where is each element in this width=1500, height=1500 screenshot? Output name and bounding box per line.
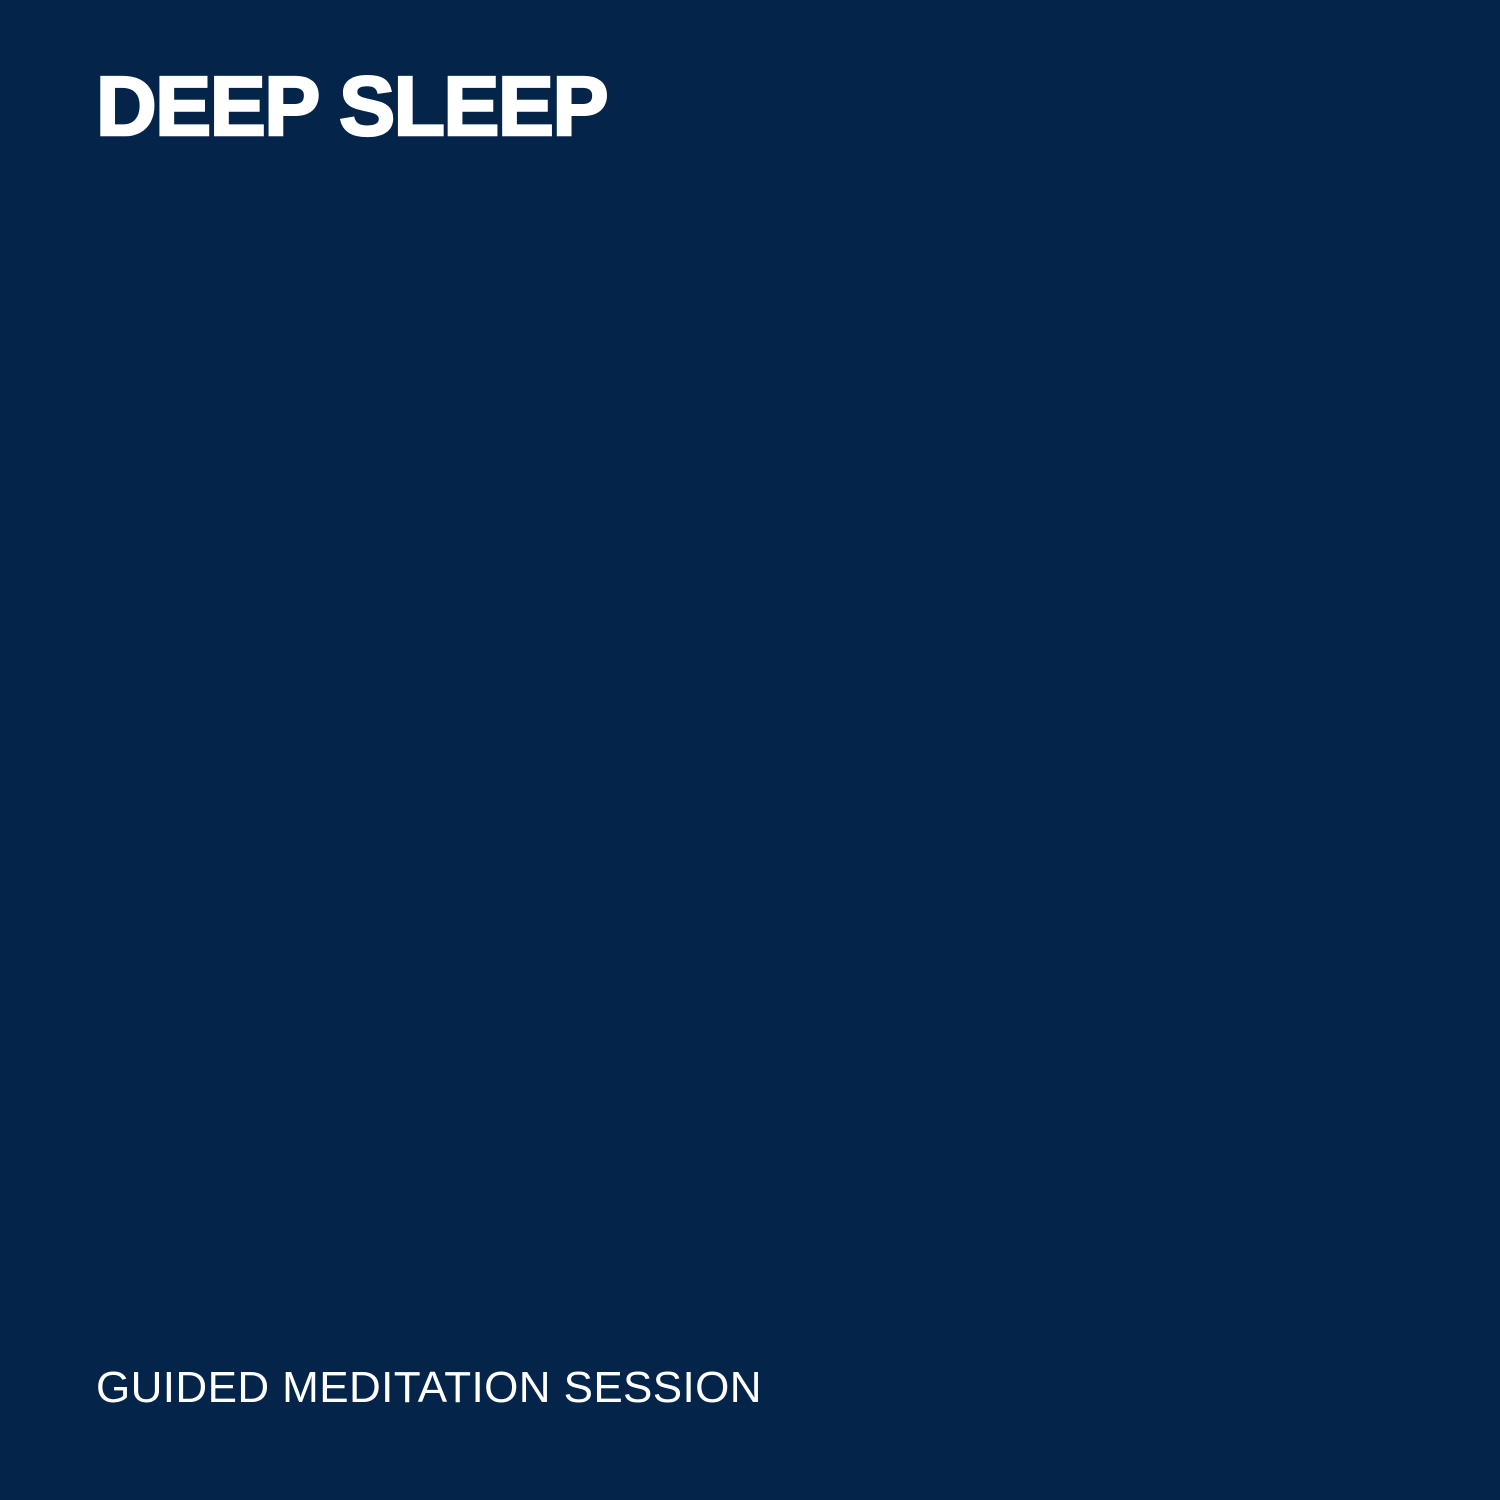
- subtitle-block: GUIDED MEDITATION SESSION: [96, 1366, 1296, 1410]
- cover-subtitle: GUIDED MEDITATION SESSION: [96, 1366, 1296, 1410]
- cover-artwork-canvas: DEEP SLEEP GUIDED MEDITATION SESSION: [0, 0, 1500, 1500]
- title-block: DEEP SLEEP: [96, 64, 1296, 148]
- page-title: DEEP SLEEP: [96, 64, 1296, 148]
